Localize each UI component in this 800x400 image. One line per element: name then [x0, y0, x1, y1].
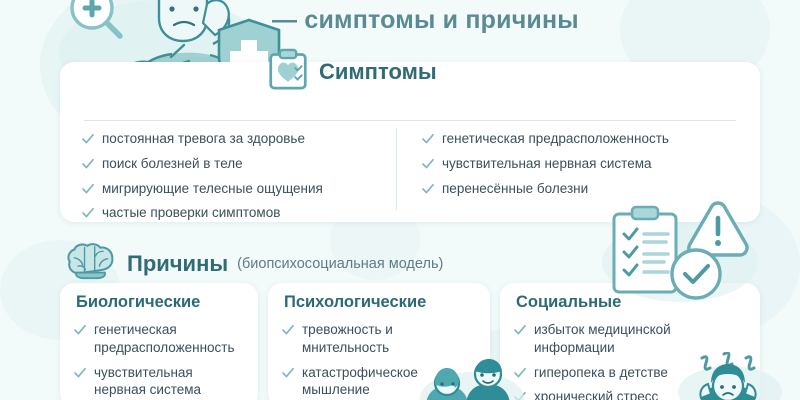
check-icon: [422, 133, 434, 145]
symptoms-right-column: генетическая предрасположенность чувстви…: [422, 130, 742, 204]
symptoms-title: Симптомы: [319, 59, 437, 85]
list-item-label: перенесённые болезни: [442, 180, 588, 198]
stressed-woman-illustration: [672, 352, 784, 400]
symptoms-left-column: постоянная тревога за здоровье поиск бол…: [82, 130, 382, 229]
list-item: чувствительная нервная система: [422, 155, 742, 173]
causes-header: Причины (биопсихосоциальная модель): [66, 243, 443, 285]
list-item: поиск болезней в теле: [82, 155, 382, 173]
symptoms-divider-vertical: [396, 128, 397, 210]
list-item: постоянная тревога за здоровье: [82, 130, 382, 148]
symptoms-right-list: генетическая предрасположенность чувстви…: [422, 130, 742, 197]
list-item-label: частые проверки симптомов: [102, 204, 280, 222]
page-title: — симптомы и причины: [272, 6, 579, 35]
check-icon: [282, 324, 294, 336]
list-item: перенесённые болезни: [422, 180, 742, 198]
list-item-label: тревожность и мнительность: [302, 321, 480, 357]
causes-column-title: Биологические: [76, 293, 200, 312]
list-item: генетическая предрасположенность: [422, 130, 742, 148]
list-item: чувствительная нервная система: [74, 364, 248, 400]
list-item-label: гиперопека в детстве: [534, 364, 668, 382]
check-icon: [74, 324, 86, 336]
check-icon: [82, 158, 94, 170]
causes-title: Причины: [127, 251, 228, 277]
check-icon: [422, 158, 434, 170]
couple-illustration: [408, 358, 526, 400]
check-icon: [514, 324, 526, 336]
list-item-label: мигрирующие телесные ощущения: [102, 180, 323, 198]
check-icon: [74, 367, 86, 379]
causes-subtitle: (биопсихосоциальная модель): [237, 256, 443, 272]
list-item-label: генетическая предрасположенность: [442, 130, 669, 148]
check-icon: [82, 183, 94, 195]
list-item: частые проверки симптомов: [82, 204, 382, 222]
check-icon: [422, 183, 434, 195]
list-item-label: поиск болезней в теле: [102, 155, 243, 173]
symptoms-header: Симптомы: [268, 48, 437, 95]
symptoms-divider-horizontal: [84, 120, 736, 121]
list-item-label: генетическая предрасположенность: [94, 321, 248, 357]
clipboard-heart-icon: [268, 48, 308, 95]
check-icon: [82, 207, 94, 219]
causes-column-title: Психологические: [284, 293, 426, 312]
symptoms-left-list: постоянная тревога за здоровье поиск бол…: [82, 130, 382, 222]
list-item: мигрирующие телесные ощущения: [82, 180, 382, 198]
check-icon: [282, 367, 294, 379]
list-item-label: постоянная тревога за здоровье: [102, 130, 305, 148]
check-icon: [82, 133, 94, 145]
symptoms-card: Симптомы постоянная тревога за здоровье …: [60, 62, 760, 222]
causes-column-biological: Биологические генетическая предрасположе…: [60, 283, 258, 400]
list-item-label: хронический стресс: [534, 388, 658, 400]
brain-icon: [66, 243, 116, 285]
checklist-warning-check-icon: [600, 200, 760, 305]
list-item-label: чувствительная нервная система: [94, 364, 248, 400]
list-item: генетическая предрасположенность: [74, 321, 248, 357]
list-item: тревожность и мнительность: [282, 321, 480, 357]
infographic-page: — симптомы и причины Симптомы: [0, 0, 800, 400]
list-item-label: чувствительная нервная система: [442, 155, 652, 173]
causes-list: генетическая предрасположенность чувстви…: [74, 321, 248, 400]
